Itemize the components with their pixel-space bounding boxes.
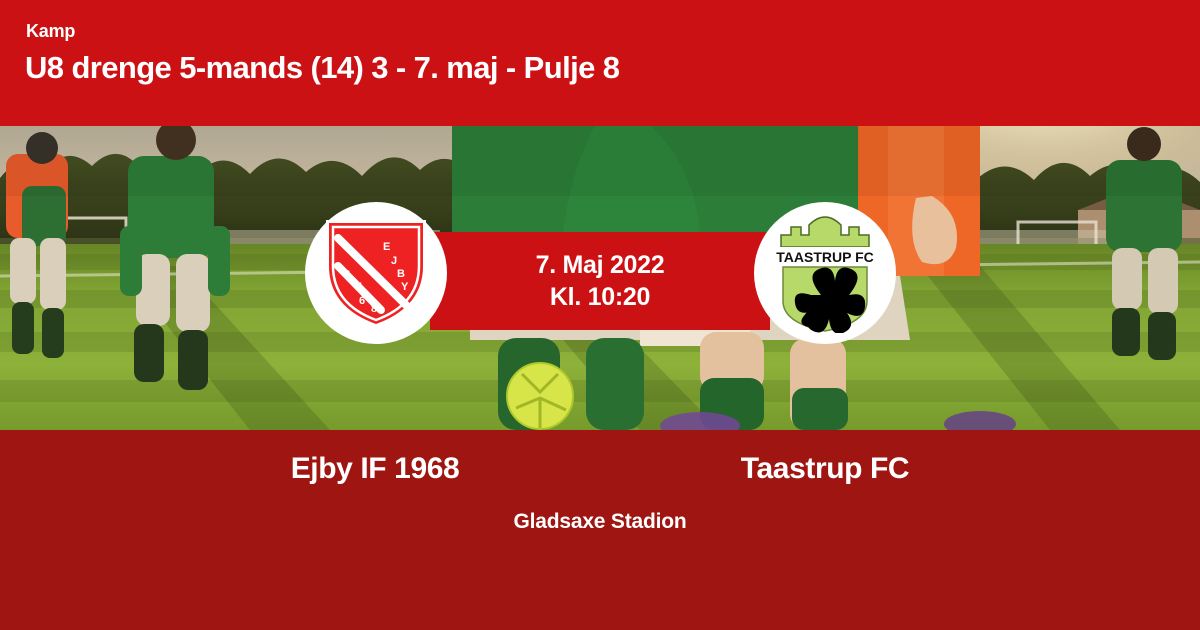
page-title: U8 drenge 5-mands (14) 3 - 7. maj - Pulj… bbox=[25, 52, 619, 85]
poster-footer-band: Ejby IF 1968 Taastrup FC Gladsaxe Stadio… bbox=[0, 430, 1200, 630]
away-team-name: Taastrup FC bbox=[615, 452, 1035, 485]
away-crest-text: TAASTRUP FC bbox=[776, 249, 873, 265]
home-crest-letter-7: 6 bbox=[359, 295, 365, 307]
home-team-logo[interactable]: E J B Y I F 6 8 bbox=[305, 202, 447, 344]
home-crest-letter-8: 8 bbox=[371, 303, 377, 315]
home-team-name: Ejby IF 1968 bbox=[165, 452, 585, 485]
away-team-logo[interactable]: TAASTRUP FC bbox=[754, 202, 896, 344]
match-poster: Kamp U8 drenge 5-mands (14) 3 - 7. maj -… bbox=[0, 0, 1200, 630]
venue-name: Gladsaxe Stadion bbox=[0, 510, 1200, 534]
match-date: 7. Maj 2022 bbox=[536, 249, 665, 281]
ejby-if-68-crest-icon: E J B Y I F 6 8 bbox=[321, 214, 431, 332]
home-crest-letter-2: J bbox=[391, 255, 397, 267]
taastrup-fc-crest-icon: TAASTRUP FC bbox=[769, 213, 881, 333]
poster-header: Kamp U8 drenge 5-mands (14) 3 - 7. maj -… bbox=[0, 0, 1200, 126]
home-crest-letter-3: B bbox=[397, 268, 405, 280]
home-crest-letter-1: E bbox=[383, 241, 390, 253]
match-time: Kl. 10:20 bbox=[550, 281, 650, 313]
crenellation bbox=[781, 217, 869, 247]
home-crest-letter-6: F bbox=[355, 281, 362, 293]
home-crest-letter-4: Y bbox=[401, 281, 409, 293]
header-kicker: Kamp bbox=[26, 22, 75, 40]
home-crest-letter-5: I bbox=[347, 269, 350, 281]
match-datetime-ribbon: 7. Maj 2022 Kl. 10:20 bbox=[430, 232, 770, 330]
